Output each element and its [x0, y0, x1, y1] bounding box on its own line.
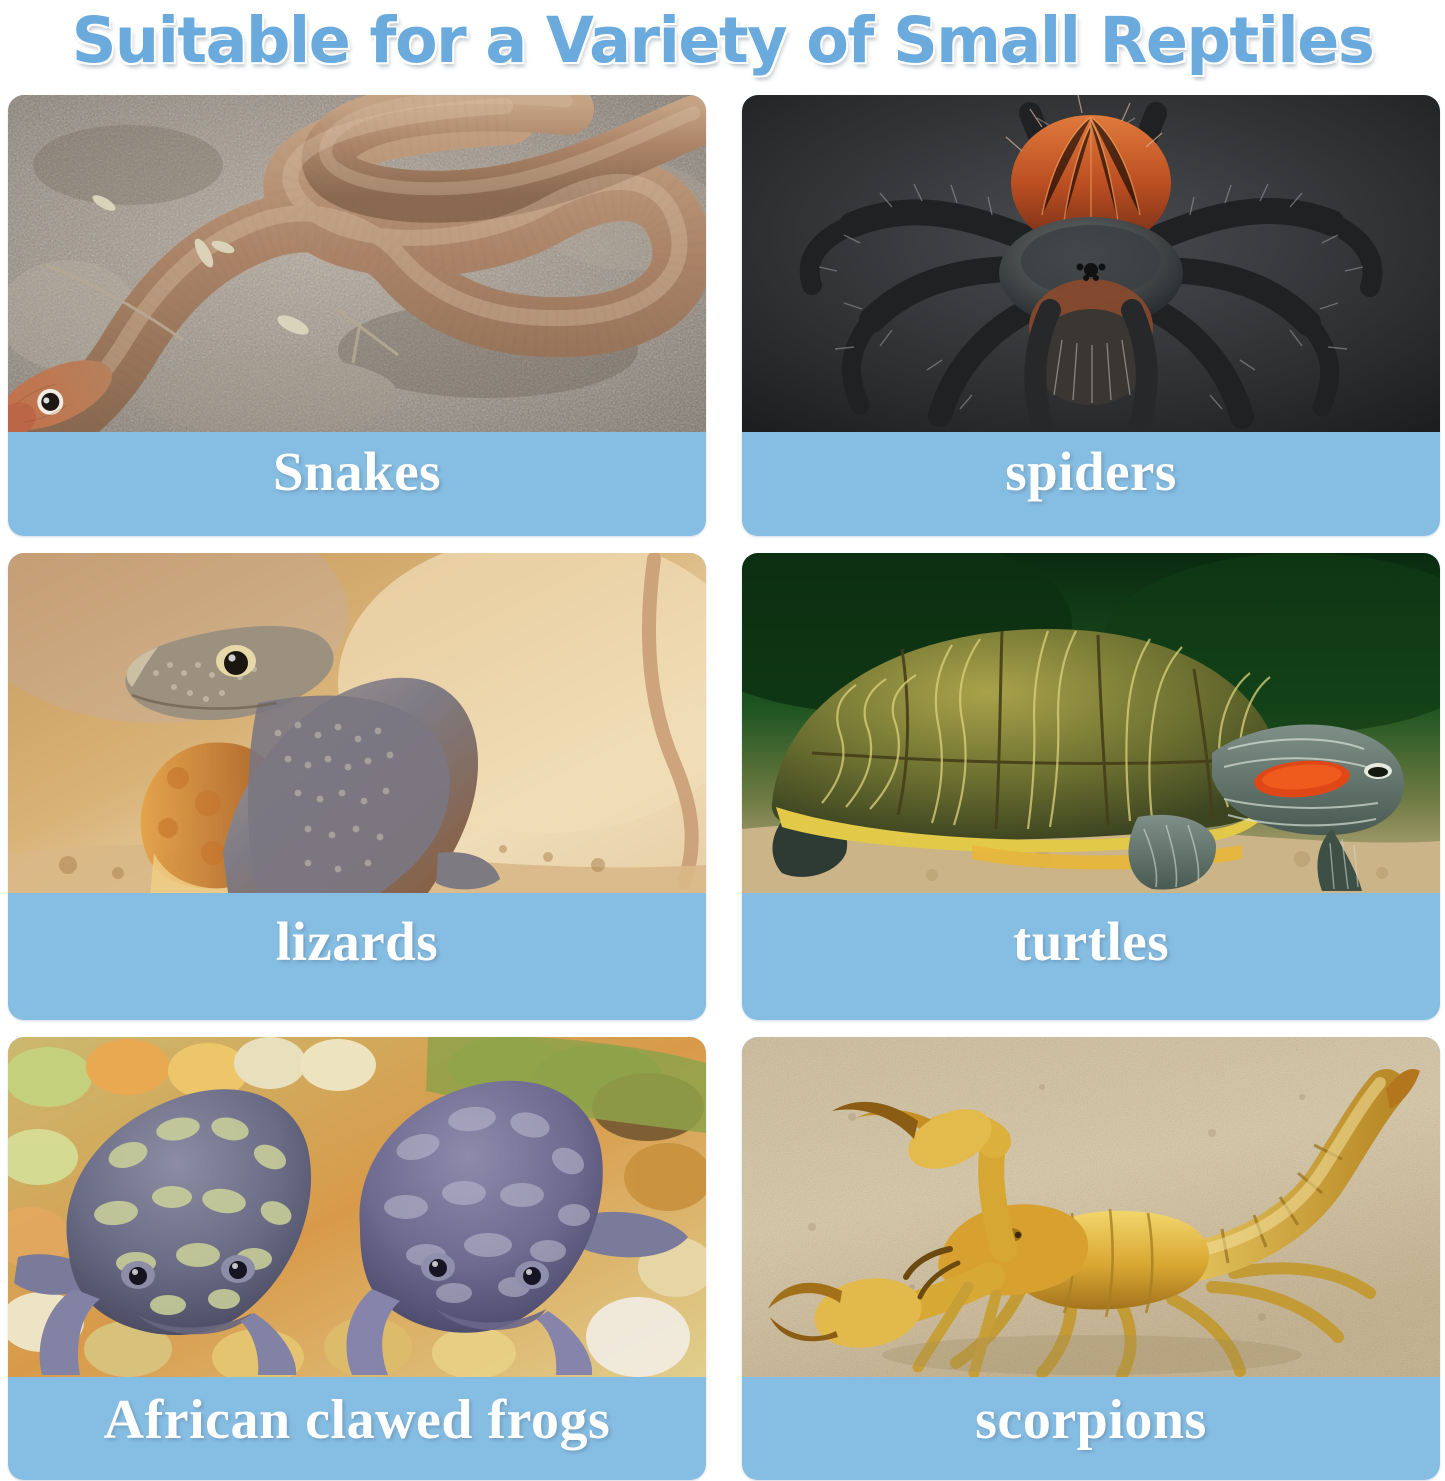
card-label-african-clawed-frogs: African clawed frogs	[8, 1377, 706, 1480]
card-turtles[interactable]: turtles	[742, 553, 1440, 1020]
card-african-clawed-frogs[interactable]: African clawed frogs	[8, 1037, 706, 1480]
card-snakes[interactable]: Snakes	[8, 95, 706, 536]
frilled-lizard-photo	[8, 553, 706, 893]
card-label-text: Snakes	[273, 440, 441, 503]
card-label-text: lizards	[276, 910, 438, 973]
card-label-spiders: spiders	[742, 432, 1440, 536]
card-label-text: African clawed frogs	[104, 1388, 611, 1452]
page-title: Suitable for a Variety of Small Reptiles	[11, 0, 1434, 84]
card-label-snakes: Snakes	[8, 432, 706, 536]
snake-photo	[8, 95, 706, 432]
card-label-scorpions: scorpions	[742, 1377, 1440, 1480]
reptile-card-grid: Snakes	[8, 95, 1440, 1481]
red-eared-slider-photo	[742, 553, 1440, 893]
product-feature-panel: Suitable for a Variety of Small Reptiles	[0, 0, 1445, 1481]
tarantula-photo	[742, 95, 1440, 432]
card-lizards[interactable]: lizards	[8, 553, 706, 1020]
scorpion-photo	[742, 1037, 1440, 1377]
card-label-text: turtles	[1013, 910, 1169, 973]
card-label-text: scorpions	[975, 1388, 1207, 1452]
card-scorpions[interactable]: scorpions	[742, 1037, 1440, 1480]
african-clawed-frogs-photo	[8, 1037, 706, 1377]
card-label-lizards: lizards	[8, 893, 706, 1020]
card-label-text: spiders	[1005, 440, 1177, 503]
card-label-turtles: turtles	[742, 893, 1440, 1020]
card-spiders[interactable]: spiders	[742, 95, 1440, 536]
